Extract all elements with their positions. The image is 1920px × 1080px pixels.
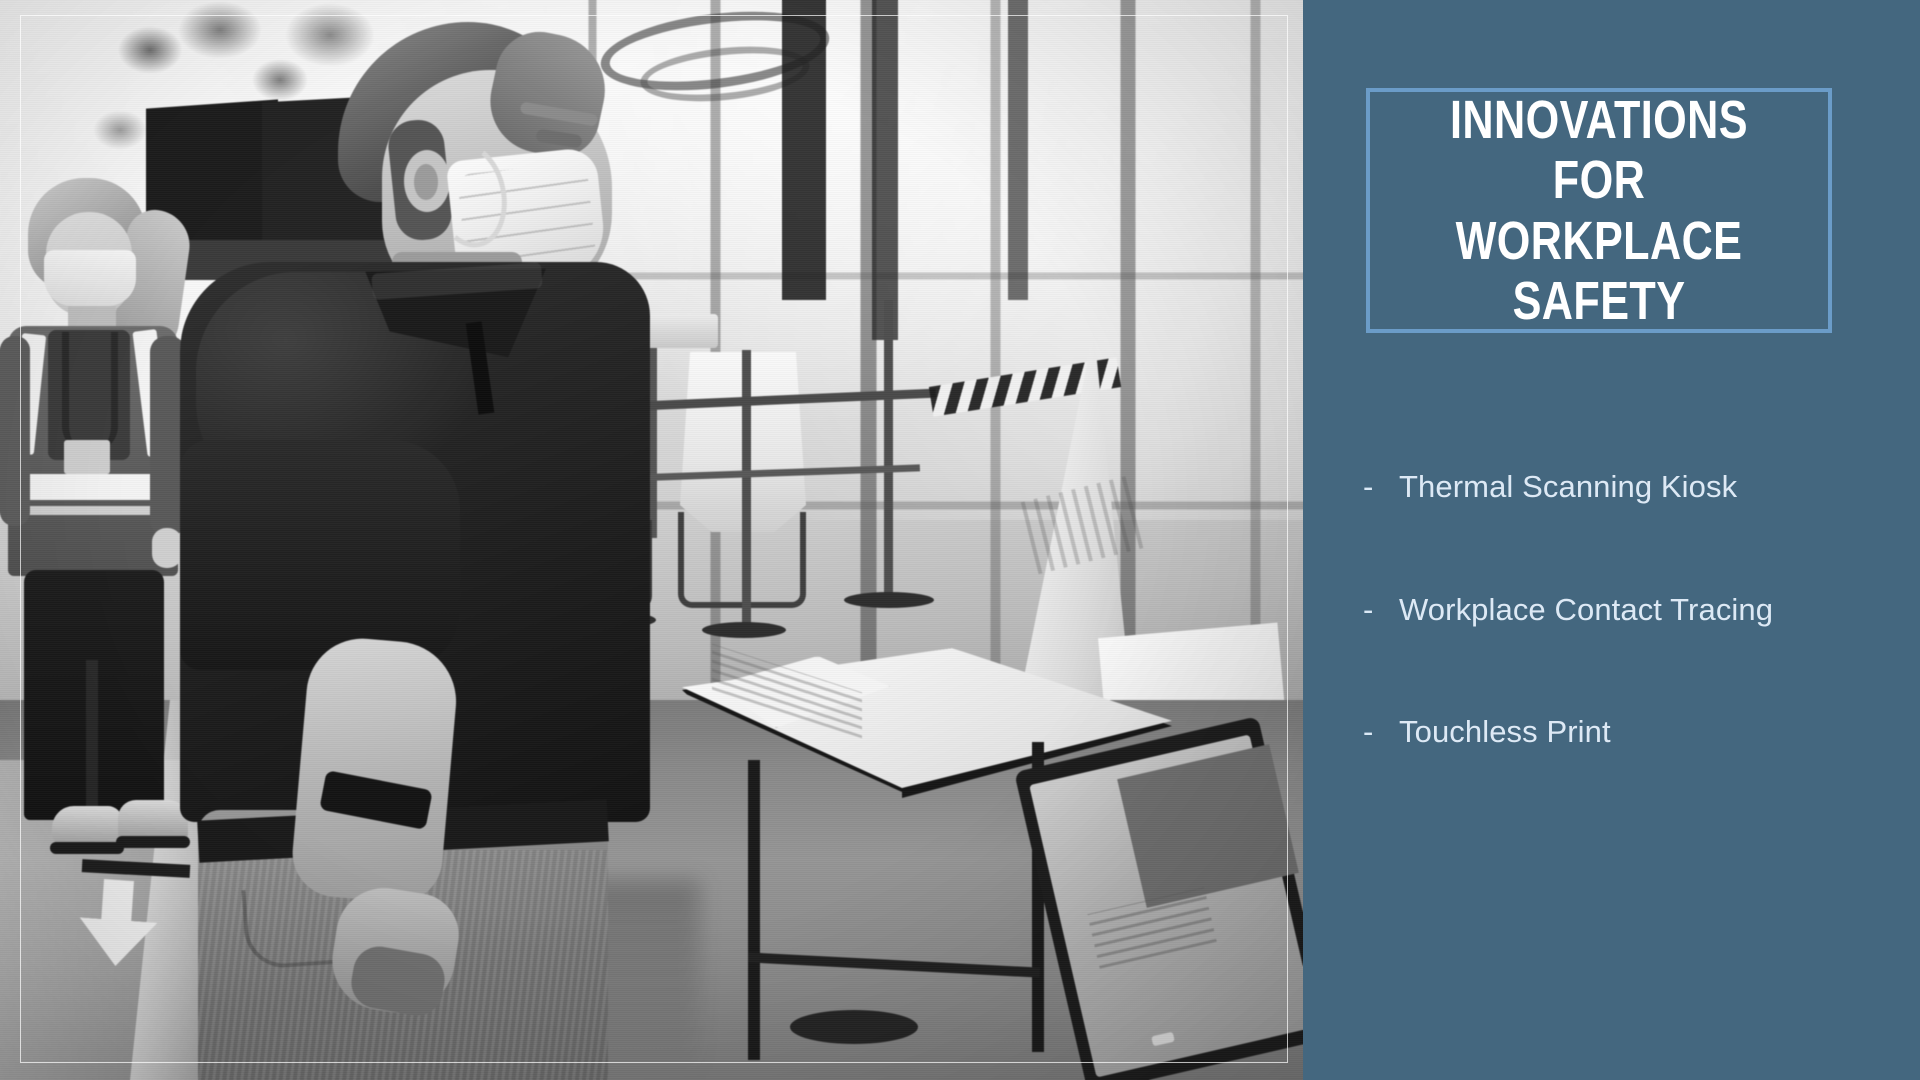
bullet-dash-icon: - bbox=[1363, 715, 1399, 750]
slide-title: Innovations for Workplace Safety bbox=[1416, 90, 1782, 332]
worker-pants-highlight bbox=[86, 660, 98, 820]
worker-lanyard bbox=[62, 332, 118, 452]
table-base-disc bbox=[790, 1010, 918, 1044]
worker-arm-left bbox=[0, 336, 30, 526]
worker-sole-right bbox=[116, 836, 190, 848]
stanchion-post-2 bbox=[742, 350, 751, 630]
list-item: - Touchless Print bbox=[1363, 715, 1903, 750]
window-transoms bbox=[560, 0, 1303, 700]
bullet-label-thermal-scanning-kiosk: Thermal Scanning Kiosk bbox=[1399, 470, 1737, 505]
man-arm bbox=[289, 634, 461, 906]
equipment-cart-right-leg bbox=[650, 348, 657, 538]
slide-photo bbox=[0, 0, 1303, 1080]
dark-column-2 bbox=[872, 0, 898, 340]
worker-sole-left bbox=[50, 842, 124, 854]
worker-face-mask bbox=[44, 250, 136, 306]
list-item: - Thermal Scanning Kiosk bbox=[1363, 470, 1903, 505]
bullet-dash-icon: - bbox=[1363, 470, 1399, 505]
stanchion-base-3 bbox=[844, 592, 934, 608]
stanchion-post-3 bbox=[884, 300, 893, 600]
bullet-label-workplace-contact-tracing: Workplace Contact Tracing bbox=[1399, 593, 1773, 628]
worker-hand-right bbox=[152, 528, 182, 568]
man-sleeve bbox=[180, 440, 460, 670]
list-item: - Workplace Contact Tracing bbox=[1363, 593, 1903, 628]
presentation-slide: Innovations for Workplace Safety - Therm… bbox=[0, 0, 1920, 1080]
slide-text-panel: Innovations for Workplace Safety - Therm… bbox=[1303, 0, 1920, 1080]
dark-column-1 bbox=[782, 0, 826, 300]
bullet-list: - Thermal Scanning Kiosk - Workplace Con… bbox=[1363, 470, 1903, 750]
dark-column-3 bbox=[1008, 0, 1028, 300]
bullet-dash-icon: - bbox=[1363, 593, 1399, 628]
stanchion-base-2 bbox=[702, 622, 786, 638]
worker-badge bbox=[64, 440, 110, 474]
table-leg-left bbox=[748, 760, 760, 1060]
bullet-label-touchless-print: Touchless Print bbox=[1399, 715, 1611, 750]
title-box: Innovations for Workplace Safety bbox=[1366, 88, 1832, 333]
